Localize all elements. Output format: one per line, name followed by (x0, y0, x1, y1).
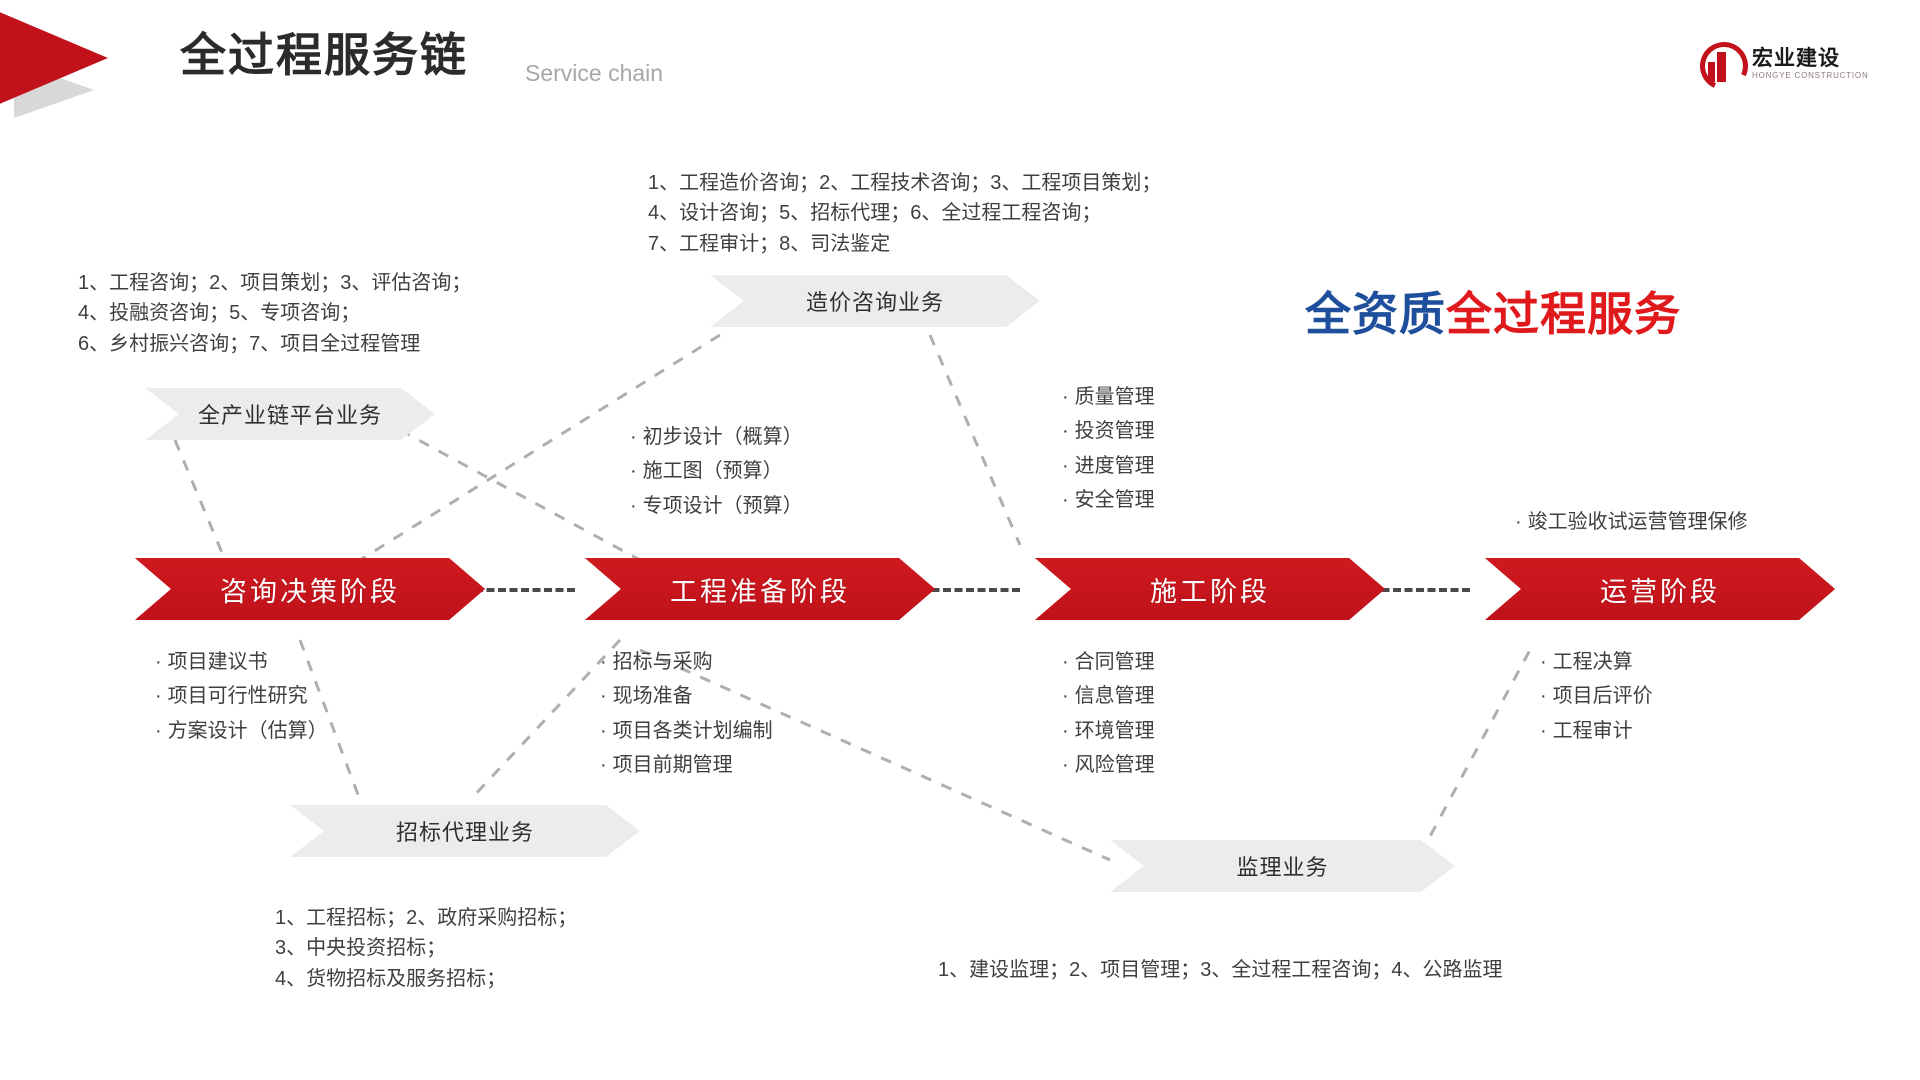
note-supervision: 1、建设监理；2、项目管理；3、全过程工程咨询；4、公路监理 (938, 955, 1503, 985)
detail-item: 项目前期管理 (600, 748, 773, 782)
note-tender-agency: 1、工程招标；2、政府采购招标； 3、中央投资招标； 4、货物招标及服务招标； (275, 903, 577, 994)
detail-item: 项目建议书 (155, 645, 328, 679)
headline-slogan: 全资质全过程服务 (1305, 278, 1681, 344)
detail-item: 风险管理 (1062, 748, 1155, 782)
business-chevron-label: 监理业务 (1236, 850, 1328, 882)
note-line: 4、投融资咨询；5、专项咨询； (78, 298, 471, 328)
detail-item: 项目后评价 (1540, 679, 1653, 713)
headline-red-text: 全过程服务 (1446, 288, 1681, 340)
stage-label: 咨询决策阶段 (220, 570, 400, 609)
details-construction-above: 质量管理 投资管理 进度管理 安全管理 (1062, 380, 1155, 518)
stage-link-1 (475, 588, 575, 592)
details-operation-above: 竣工验收试运营管理保修 (1515, 505, 1748, 539)
stage-label: 工程准备阶段 (670, 570, 850, 609)
note-line: 4、货物招标及服务招标； (275, 964, 577, 994)
detail-item: 合同管理 (1062, 645, 1155, 679)
detail-item: 项目可行性研究 (155, 679, 328, 713)
note-line: 4、设计咨询；5、招标代理；6、全过程工程咨询； (648, 198, 1161, 228)
stage-link-3 (1370, 588, 1470, 592)
note-platform-business: 1、工程咨询；2、项目策划；3、评估咨询； 4、投融资咨询；5、专项咨询； 6、… (78, 268, 471, 359)
business-chevron-label: 全产业链平台业务 (198, 398, 382, 430)
header-red-arrow (0, 8, 108, 108)
details-construction-below: 合同管理 信息管理 环境管理 风险管理 (1062, 645, 1155, 783)
page-subtitle: Service chain (525, 60, 663, 87)
business-chevron-tender[interactable]: 招标代理业务 (290, 805, 640, 857)
detail-item: 现场准备 (600, 679, 773, 713)
note-line: 1、工程造价咨询；2、工程技术咨询；3、工程项目策划； (648, 168, 1161, 198)
detail-item: 方案设计（估算） (155, 714, 328, 748)
detail-item: 信息管理 (1062, 679, 1155, 713)
stage-chevron-operation[interactable]: 运营阶段 (1485, 558, 1835, 620)
logo-name-en: HONGYE CONSTRUCTION (1752, 72, 1869, 80)
detail-item: 初步设计（概算） (630, 420, 803, 454)
details-operation-below: 工程决算 项目后评价 工程审计 (1540, 645, 1653, 748)
slide-canvas: 全过程服务链 Service chain 宏业建设 HONGYE CONSTRU… (0, 0, 1920, 1080)
stage-chevron-consulting[interactable]: 咨询决策阶段 (135, 558, 485, 620)
headline-blue-text: 全资质 (1305, 288, 1446, 340)
detail-item: 施工图（预算） (630, 454, 803, 488)
company-logo: 宏业建设 HONGYE CONSTRUCTION (1700, 42, 1869, 86)
detail-item: 环境管理 (1062, 714, 1155, 748)
stage-chevron-construction[interactable]: 施工阶段 (1035, 558, 1385, 620)
business-chevron-label: 招标代理业务 (396, 815, 534, 847)
page-title: 全过程服务链 (180, 32, 468, 78)
stage-chevron-preparation[interactable]: 工程准备阶段 (585, 558, 935, 620)
details-preparation-below: 招标与采购 现场准备 项目各类计划编制 项目前期管理 (600, 645, 773, 783)
detail-item: 工程审计 (1540, 714, 1653, 748)
business-chevron-supervision[interactable]: 监理业务 (1110, 840, 1455, 892)
logo-name-cn: 宏业建设 (1752, 48, 1869, 69)
detail-item: 工程决算 (1540, 645, 1653, 679)
business-chevron-cost[interactable]: 造价咨询业务 (710, 275, 1040, 327)
details-consulting-below: 项目建议书 项目可行性研究 方案设计（估算） (155, 645, 328, 748)
detail-item: 安全管理 (1062, 483, 1155, 517)
detail-item: 竣工验收试运营管理保修 (1515, 505, 1748, 539)
detail-item: 招标与采购 (600, 645, 773, 679)
note-cost-consulting: 1、工程造价咨询；2、工程技术咨询；3、工程项目策划； 4、设计咨询；5、招标代… (648, 168, 1161, 259)
stage-link-2 (920, 588, 1020, 592)
business-chevron-platform[interactable]: 全产业链平台业务 (145, 388, 435, 440)
stage-label: 施工阶段 (1150, 570, 1270, 609)
detail-item: 进度管理 (1062, 449, 1155, 483)
business-chevron-label: 造价咨询业务 (806, 285, 944, 317)
detail-item: 投资管理 (1062, 414, 1155, 448)
detail-item: 项目各类计划编制 (600, 714, 773, 748)
logo-mark-icon (1700, 42, 1744, 86)
detail-item: 质量管理 (1062, 380, 1155, 414)
note-line: 3、中央投资招标； (275, 933, 577, 963)
note-line: 6、乡村振兴咨询；7、项目全过程管理 (78, 329, 471, 359)
note-line: 7、工程审计；8、司法鉴定 (648, 229, 1161, 259)
details-preparation-above: 初步设计（概算） 施工图（预算） 专项设计（预算） (630, 420, 803, 523)
note-line: 1、工程咨询；2、项目策划；3、评估咨询； (78, 268, 471, 298)
note-line: 1、建设监理；2、项目管理；3、全过程工程咨询；4、公路监理 (938, 955, 1503, 985)
stage-label: 运营阶段 (1600, 570, 1720, 609)
detail-item: 专项设计（预算） (630, 489, 803, 523)
note-line: 1、工程招标；2、政府采购招标； (275, 903, 577, 933)
